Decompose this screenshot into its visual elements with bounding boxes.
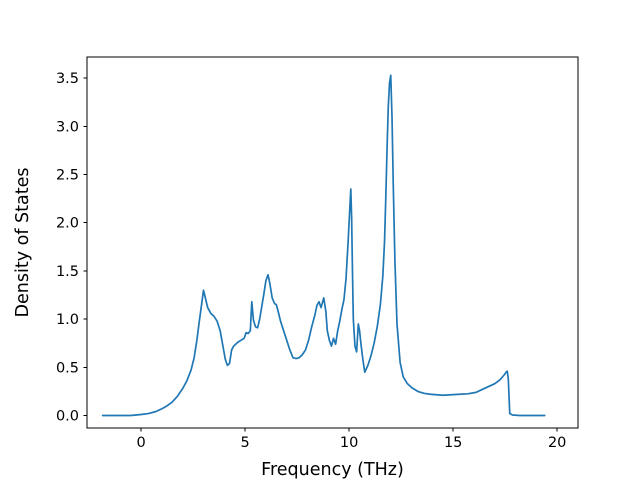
dos-series-line bbox=[103, 75, 545, 415]
y-tick-label: 2.5 bbox=[56, 168, 79, 184]
y-tick-label: 3.0 bbox=[56, 119, 79, 135]
y-axis-title: Density of States bbox=[13, 168, 33, 318]
x-tick-label: 10 bbox=[340, 435, 358, 451]
x-tick-label: 0 bbox=[136, 435, 145, 451]
figure-canvas: 051015200.00.51.01.52.02.53.03.5Frequenc… bbox=[0, 0, 640, 480]
plot-area: 051015200.00.51.01.52.02.53.03.5Frequenc… bbox=[13, 57, 578, 480]
y-tick-label: 0.5 bbox=[56, 360, 79, 376]
y-tick-label: 1.5 bbox=[56, 264, 79, 280]
x-tick-label: 15 bbox=[444, 435, 462, 451]
y-tick-label: 3.5 bbox=[56, 71, 79, 87]
y-tick-label: 1.0 bbox=[56, 312, 79, 328]
dos-line-chart: 051015200.00.51.01.52.02.53.03.5Frequenc… bbox=[0, 0, 640, 480]
y-tick-label: 2.0 bbox=[56, 216, 79, 232]
y-tick-label: 0.0 bbox=[56, 408, 79, 424]
axes-frame bbox=[87, 57, 578, 428]
x-tick-label: 20 bbox=[548, 435, 566, 451]
x-axis-title: Frequency (THz) bbox=[261, 460, 404, 480]
x-tick-label: 5 bbox=[241, 435, 250, 451]
